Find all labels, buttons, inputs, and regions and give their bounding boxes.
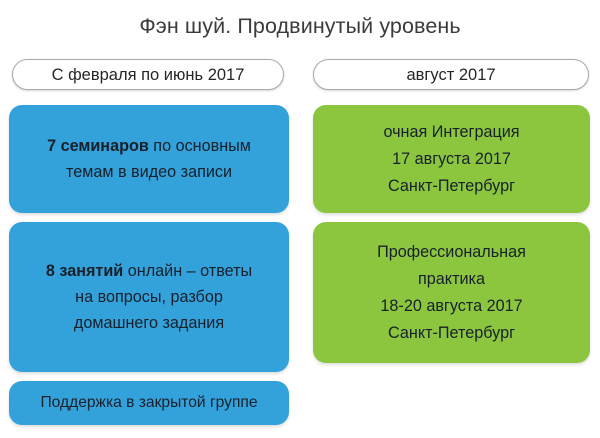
column-header-left: С февраля по июнь 2017 [12,59,284,90]
card-line: очная Интеграция [323,119,580,146]
card-line: на вопросы, разбор [19,284,279,310]
card-blue-seminars: 7 семинаров по основным темам в видео за… [9,105,289,213]
card-line: Санкт-Петербург [323,173,580,200]
card-line: Санкт-Петербург [323,320,580,347]
card-line: 17 августа 2017 [323,146,580,173]
card-line: 8 занятий онлайн – ответы [19,258,279,284]
card-blue-support: Поддержка в закрытой группе [9,381,289,425]
card-lead: 7 семинаров [47,137,149,155]
card-line: Профессиональная [323,239,580,266]
slide-canvas: Фэн шуй. Продвинутый уровень С февраля п… [0,0,600,438]
column-header-right-label: август 2017 [406,65,495,85]
card-line: темам в видео записи [19,159,279,185]
card-lead: 8 занятий [46,262,123,280]
page-title: Фэн шуй. Продвинутый уровень [0,12,600,40]
card-line: 18-20 августа 2017 [323,293,580,320]
card-rest: онлайн – ответы [123,262,252,280]
card-line: Поддержка в закрытой группе [19,390,279,416]
card-green-integration: очная Интеграция 17 августа 2017 Санкт-П… [313,105,590,213]
card-line: практика [323,266,580,293]
card-blue-lessons-text: 8 занятий онлайн – ответы на вопросы, ра… [9,258,289,336]
card-blue-seminars-text: 7 семинаров по основным темам в видео за… [9,133,289,185]
card-blue-support-text: Поддержка в закрытой группе [9,390,289,416]
card-green-integration-text: очная Интеграция 17 августа 2017 Санкт-П… [313,119,590,200]
card-line: 7 семинаров по основным [19,133,279,159]
card-green-practice-text: Профессиональная практика 18-20 августа … [313,239,590,347]
column-header-right: август 2017 [313,59,589,90]
card-line: домашнего задания [19,310,279,336]
card-rest: по основным [149,137,251,155]
card-green-practice: Профессиональная практика 18-20 августа … [313,222,590,363]
card-blue-lessons: 8 занятий онлайн – ответы на вопросы, ра… [9,222,289,372]
column-header-left-label: С февраля по июнь 2017 [52,65,245,85]
